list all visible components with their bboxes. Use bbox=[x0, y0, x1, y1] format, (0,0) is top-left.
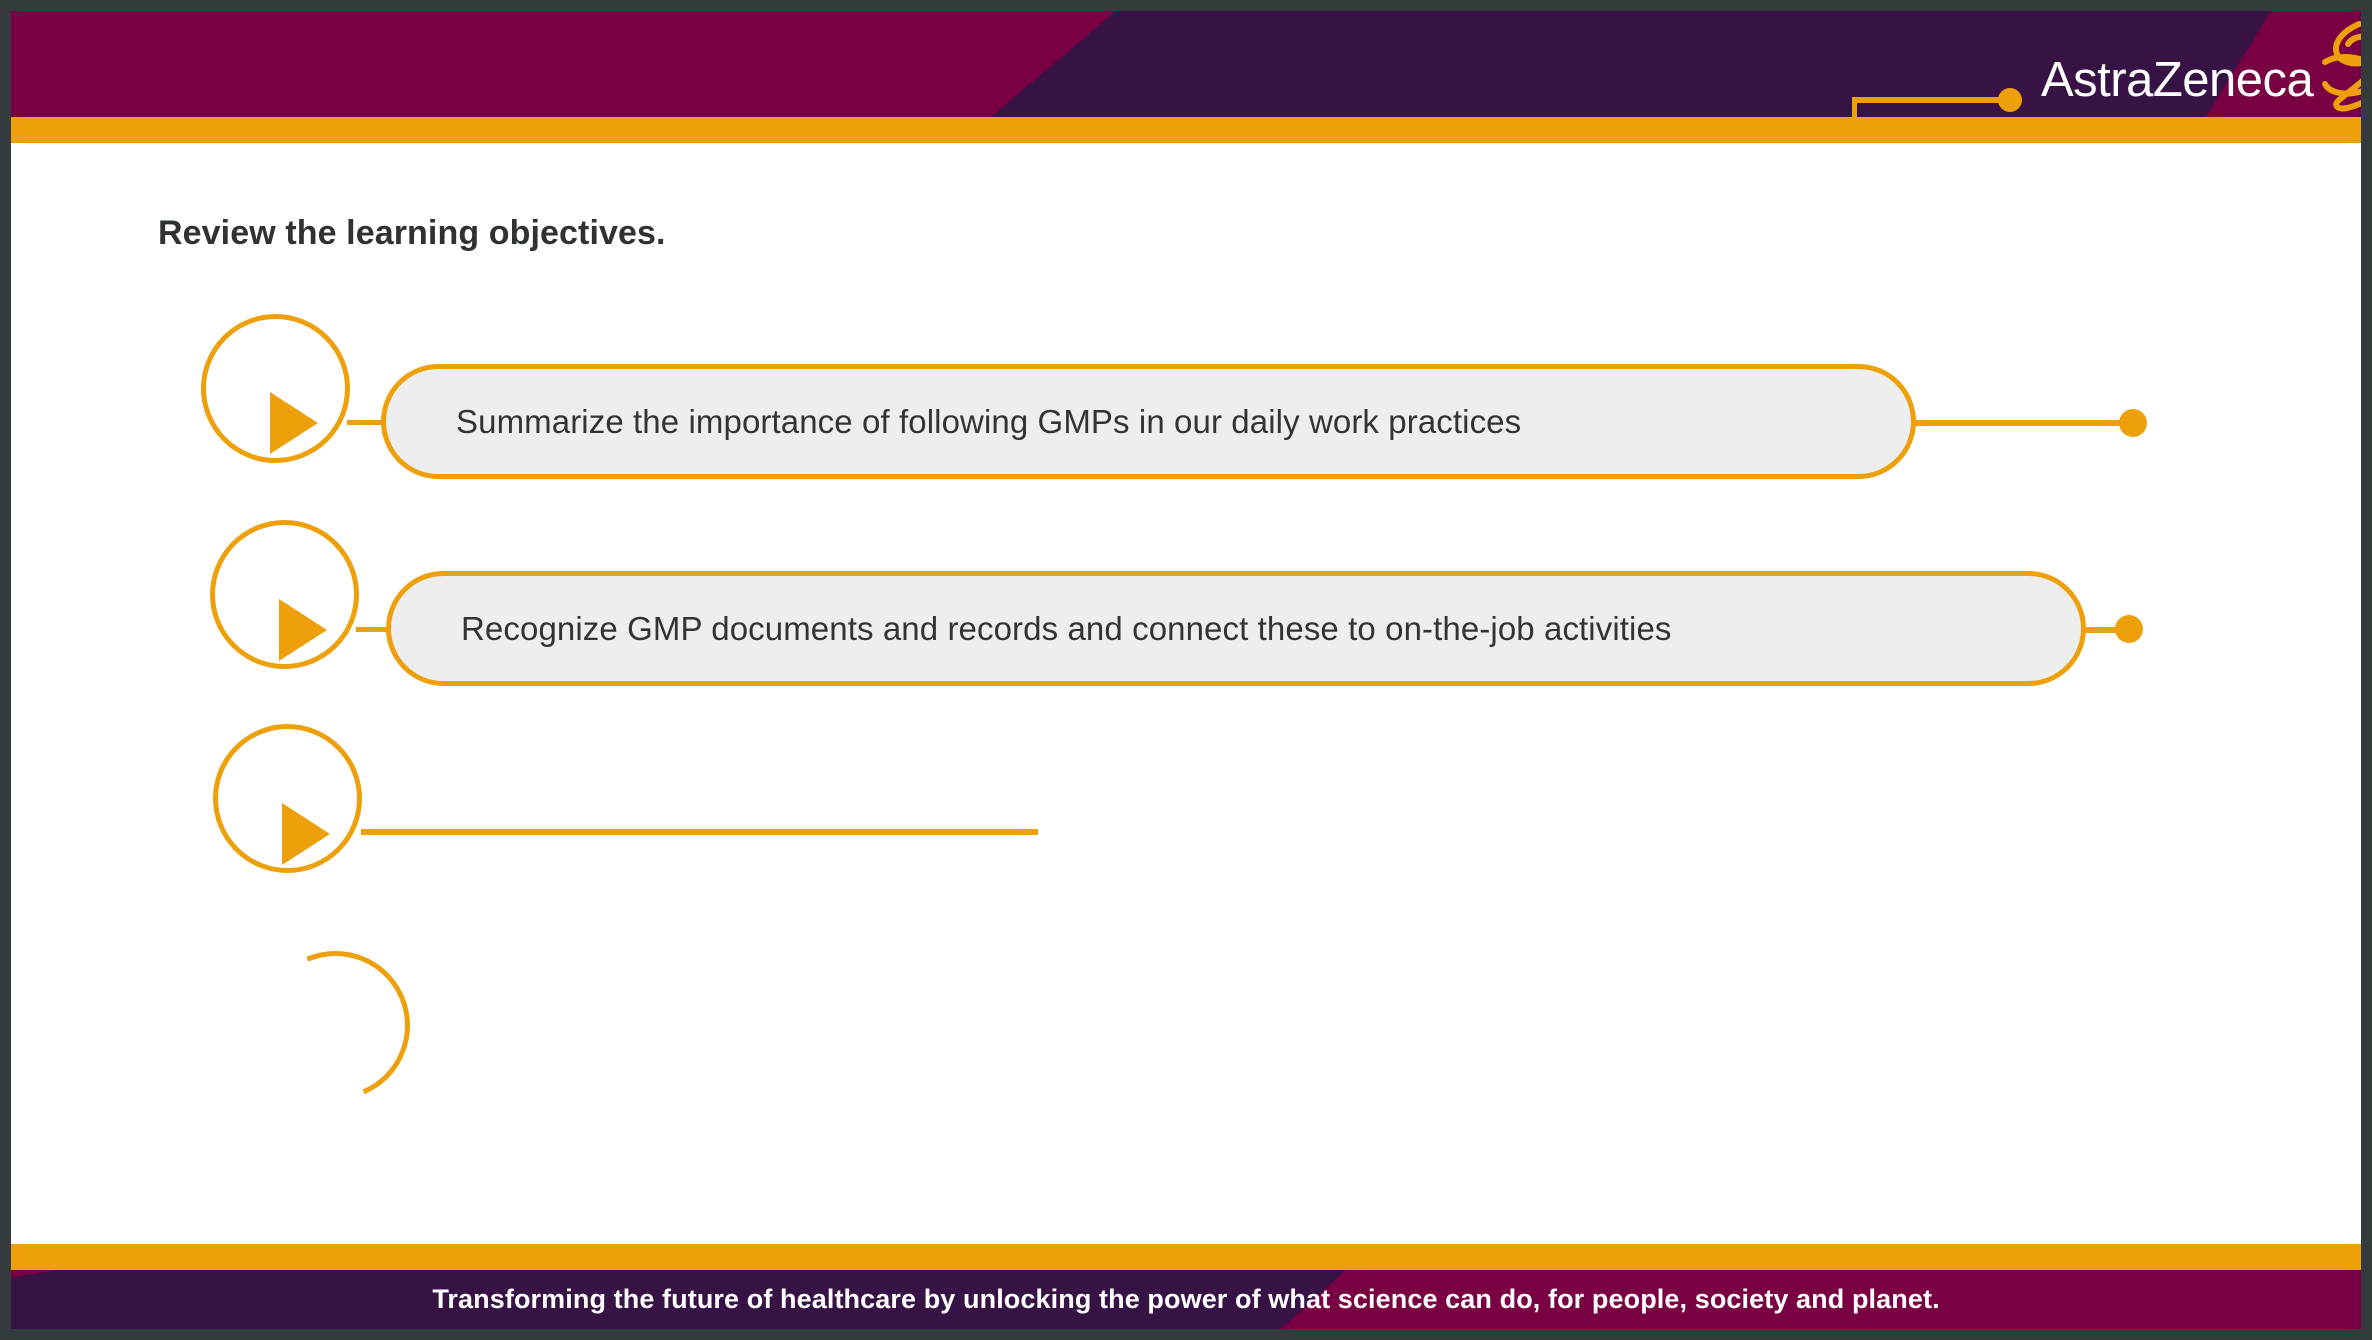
astrazeneca-logo: AstraZeneca bbox=[2041, 49, 2361, 111]
play-triangle-icon[interactable] bbox=[270, 392, 318, 454]
page-title: Review the learning objectives. bbox=[158, 214, 666, 253]
footer-tagline: Transforming the future of healthcare by… bbox=[11, 1270, 2361, 1329]
header-orange-rule bbox=[11, 117, 2361, 143]
logo-lead-line-horizontal bbox=[1852, 97, 2016, 103]
slide-canvas: AstraZeneca Review the learning objectiv… bbox=[11, 11, 2361, 1329]
objective-3-connector-line bbox=[361, 829, 1038, 835]
logo-wordmark: AstraZeneca bbox=[2041, 56, 2313, 105]
objective-4-partial-arc bbox=[239, 929, 433, 1123]
play-triangle-icon[interactable] bbox=[282, 803, 330, 865]
objective-2-tail-dot bbox=[2115, 615, 2143, 643]
play-triangle-icon[interactable] bbox=[279, 599, 327, 661]
objective-2-label: Recognize GMP documents and records and … bbox=[391, 610, 1672, 648]
slide-footer: Transforming the future of healthcare by… bbox=[11, 1270, 2361, 1329]
objective-1-tail-line bbox=[1911, 420, 2126, 426]
objective-1-pill[interactable]: Summarize the importance of following GM… bbox=[381, 364, 1916, 479]
logo-lead-line-vertical bbox=[1852, 99, 1857, 141]
objective-1-label: Summarize the importance of following GM… bbox=[386, 403, 1521, 441]
objective-2-pill[interactable]: Recognize GMP documents and records and … bbox=[386, 571, 2086, 686]
astrazeneca-ribbon-logo-icon bbox=[2315, 18, 2361, 119]
objective-1-tail-dot bbox=[2119, 409, 2147, 437]
objective-1-connector bbox=[347, 420, 385, 425]
slide-frame: AstraZeneca Review the learning objectiv… bbox=[0, 0, 2372, 1340]
logo-lead-dot bbox=[1998, 88, 2022, 112]
footer-orange-rule bbox=[11, 1244, 2361, 1270]
